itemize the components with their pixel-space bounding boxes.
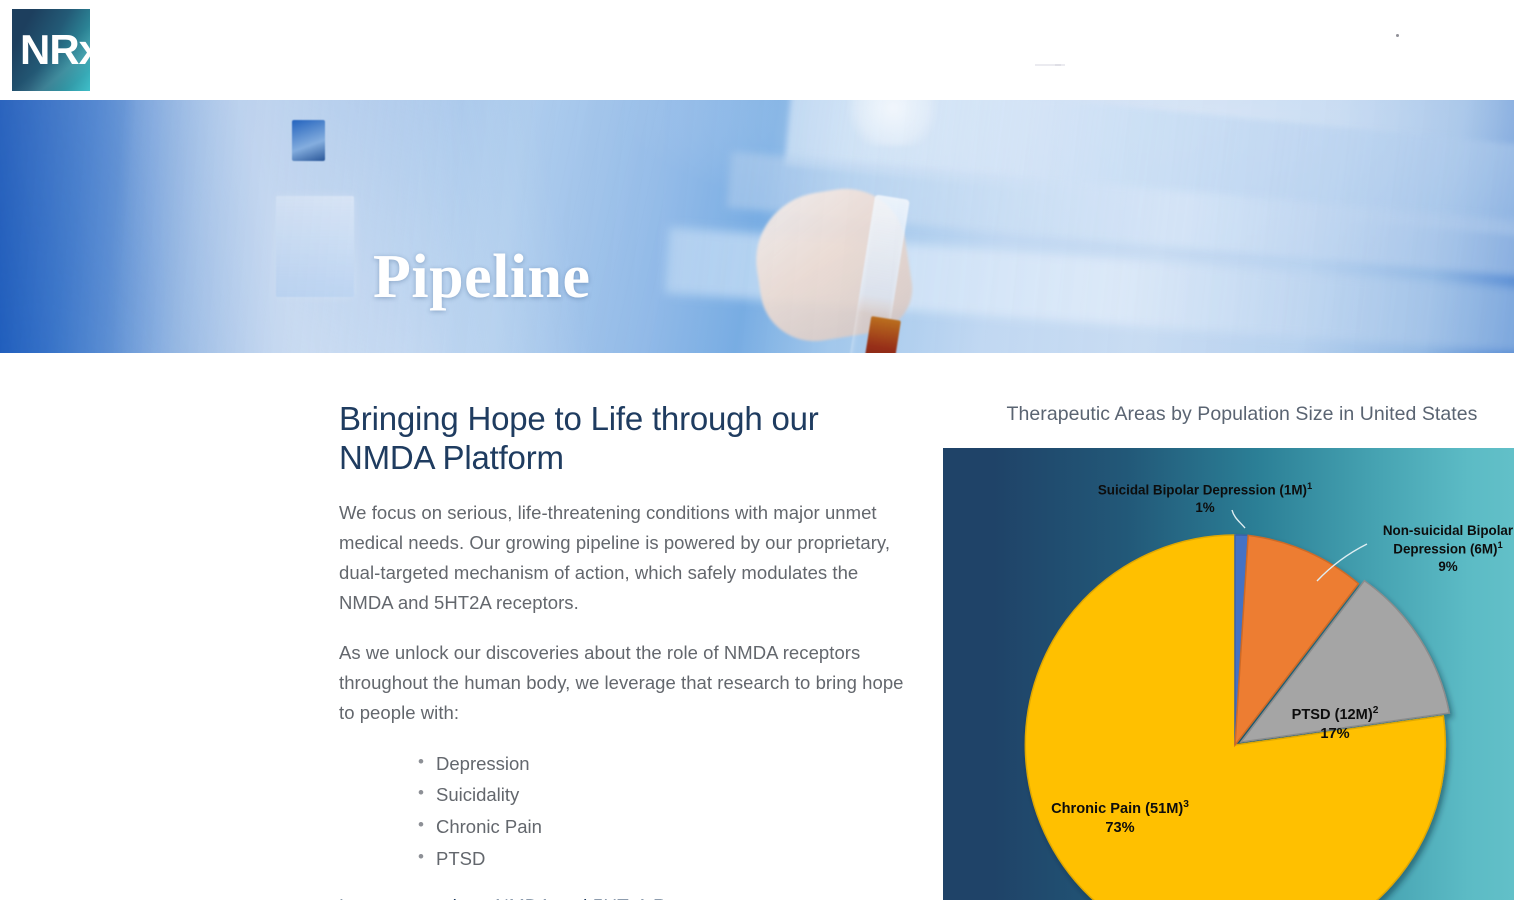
page-title: Pipeline	[373, 245, 591, 310]
list-item: PTSD	[339, 844, 917, 874]
pie-label-percent: 1%	[1095, 499, 1315, 516]
pie-label-percent: 17%	[1265, 725, 1405, 744]
pie-label-non-suicidal-bipolar: Non-suicidal Bipolar Depression (6M)1 9%	[1373, 522, 1514, 575]
pie-label-footnote: 3	[1183, 799, 1189, 810]
pie-label-ptsd: PTSD (12M)2 17%	[1265, 704, 1405, 743]
pie-label-suicidal-bipolar: Suicidal Bipolar Depression (1M)1 1%	[1095, 480, 1315, 516]
list-item: Suicidality	[339, 780, 917, 810]
intro-paragraph-2: As we unlock our discoveries about the r…	[339, 638, 917, 728]
pie-label-text: Suicidal Bipolar Depression (1M)	[1098, 482, 1307, 497]
list-item: Depression	[339, 749, 917, 779]
conditions-list: Depression Suicidality Chronic Pain PTSD	[339, 749, 917, 875]
site-header: NRx	[0, 0, 1514, 100]
intro-column: Bringing Hope to Life through our NMDA P…	[339, 399, 917, 900]
pie-label-text: Chronic Pain (51M)	[1051, 801, 1183, 817]
main-content: Bringing Hope to Life through our NMDA P…	[0, 353, 1514, 900]
therapeutic-areas-chart: Therapeutic Areas by Population Size in …	[943, 353, 1514, 900]
list-item: Chronic Pain	[339, 812, 917, 842]
pie-label-footnote: 2	[1373, 705, 1379, 716]
logo-wordmark: NRx	[20, 29, 101, 71]
page-root: NRx Pipeline Bringing Hope to Life throu…	[0, 0, 1514, 900]
section-heading: Bringing Hope to Life through our NMDA P…	[339, 399, 917, 478]
pie-label-percent: 9%	[1373, 558, 1514, 575]
chart-title: Therapeutic Areas by Population Size in …	[992, 403, 1492, 426]
hero-background-photo	[0, 100, 1514, 353]
pie-label-footnote: 1	[1497, 540, 1502, 550]
nrx-logo[interactable]: NRx	[12, 9, 100, 91]
header-artifact-line-small	[1055, 64, 1061, 66]
intro-paragraph-1: We focus on serious, life-threatening co…	[339, 498, 917, 619]
pie-label-text: PTSD (12M)	[1292, 707, 1373, 723]
pie-label-text-line-1: Non-suicidal Bipolar	[1383, 523, 1513, 538]
header-artifact-dot	[1396, 34, 1399, 37]
pie-label-chronic-pain: Chronic Pain (51M)3 73%	[1005, 798, 1235, 837]
hero-banner: Pipeline	[0, 100, 1514, 353]
pie-label-text-line-2: Depression (6M)	[1393, 542, 1497, 557]
pie-chart-canvas: Suicidal Bipolar Depression (1M)1 1% Non…	[943, 448, 1514, 900]
pie-label-footnote: 1	[1307, 481, 1312, 491]
pie-label-percent: 73%	[1005, 819, 1235, 838]
hero-photo-blue-overlay	[0, 100, 1514, 353]
